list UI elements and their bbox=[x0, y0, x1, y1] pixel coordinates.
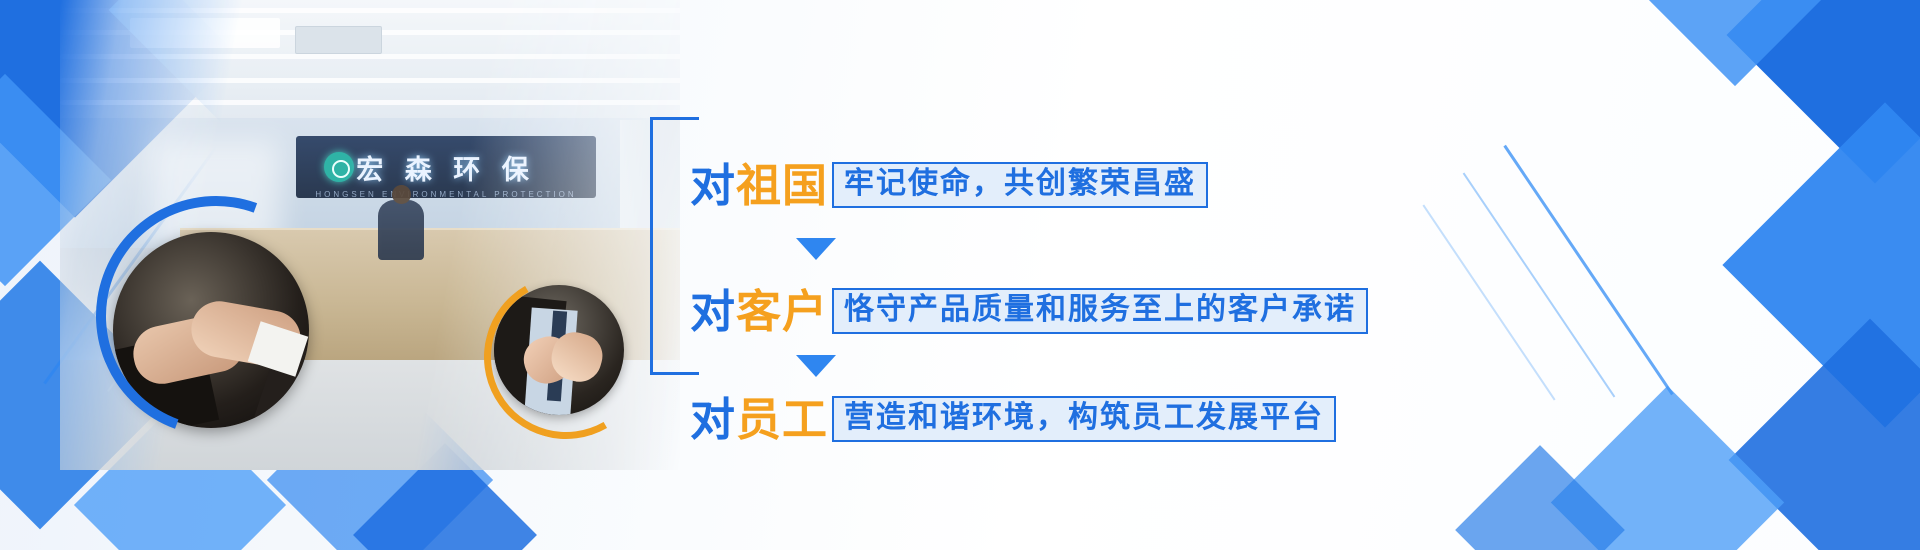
photo-ceiling-vent bbox=[295, 26, 382, 54]
statement-row-1: 对祖国 牢记使命，共创繁荣昌盛 bbox=[690, 162, 1208, 208]
decor-diamond-right-2 bbox=[1629, 0, 1841, 86]
culture-banner: 宏 森 环 保 HONGSEN ENVIRONMENTAL PROTECTION bbox=[0, 0, 1920, 550]
lead-keyword: 祖国 bbox=[736, 159, 828, 212]
statement-lead-2: 对客户 bbox=[690, 289, 828, 334]
handshake-photo-inset bbox=[113, 232, 309, 428]
statement-text-3: 营造和谐环境，构筑员工发展平台 bbox=[832, 396, 1336, 442]
photo-ceiling-panel bbox=[130, 18, 280, 48]
culture-statements: 对祖国 牢记使命，共创繁荣昌盛 对客户 恪守产品质量和服务至上的客户承诺 对员工… bbox=[650, 70, 1350, 400]
statement-row-2: 对客户 恪守产品质量和服务至上的客户承诺 bbox=[690, 288, 1368, 334]
photo-ceiling-slat bbox=[60, 78, 680, 83]
lead-prefix: 对 bbox=[690, 393, 736, 446]
photo-ceiling-slat bbox=[60, 8, 680, 13]
decor-diamond-right-5 bbox=[1551, 386, 1784, 550]
applause-photo-inset bbox=[494, 285, 624, 415]
decor-diamond-right-6 bbox=[1455, 445, 1625, 550]
decor-line-right-2 bbox=[1463, 173, 1616, 398]
statement-text-2: 恪守产品质量和服务至上的客户承诺 bbox=[832, 288, 1368, 334]
photo-ceiling-slat bbox=[60, 100, 680, 105]
arrow-down-icon bbox=[796, 238, 836, 260]
statement-lead-3: 对员工 bbox=[690, 397, 828, 442]
statement-text-1: 牢记使命，共创繁荣昌盛 bbox=[832, 162, 1208, 208]
statement-row-3: 对员工 营造和谐环境，构筑员工发展平台 bbox=[690, 396, 1336, 442]
decor-diamond-right-3 bbox=[1722, 102, 1920, 427]
lead-keyword: 员工 bbox=[736, 393, 828, 446]
lead-keyword: 客户 bbox=[736, 285, 828, 338]
decor-diamond-right-4 bbox=[1729, 319, 1920, 550]
company-sign-text: 宏 森 环 保 bbox=[296, 136, 596, 198]
lead-prefix: 对 bbox=[690, 159, 736, 212]
lead-prefix: 对 bbox=[690, 285, 736, 338]
company-sign-subtext: HONGSEN ENVIRONMENTAL PROTECTION bbox=[296, 190, 596, 199]
photo-receptionist bbox=[378, 200, 424, 260]
decor-line-right-3 bbox=[1422, 205, 1555, 401]
photo-ceiling-slat bbox=[60, 54, 680, 59]
arrow-down-icon bbox=[796, 355, 836, 377]
statement-lead-1: 对祖国 bbox=[690, 163, 828, 208]
decor-diamond-right-1 bbox=[1727, 0, 1920, 183]
decor-line-right-1 bbox=[1503, 145, 1673, 395]
